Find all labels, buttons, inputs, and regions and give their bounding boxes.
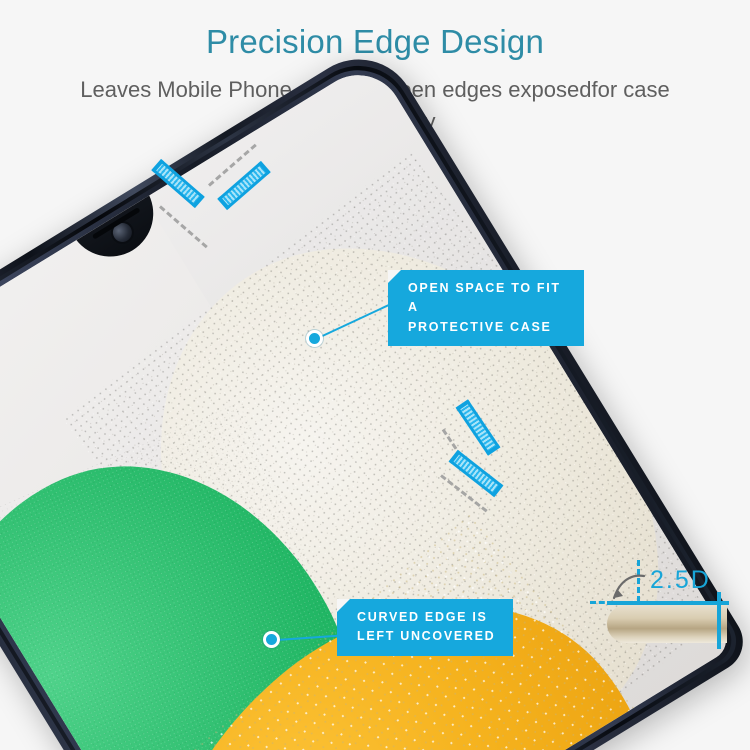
callout-curved-edge: CURVED EDGE IS LEFT UNCOVERED bbox=[337, 599, 513, 656]
callout-open-space: OPEN SPACE TO FIT A PROTECTIVE CASE bbox=[388, 270, 584, 346]
glass-cross-section bbox=[607, 605, 727, 643]
edge-profile-diagram: 2.5D bbox=[560, 550, 750, 690]
callout-anchor-dot bbox=[263, 631, 280, 648]
edge-spec-label: 2.5D bbox=[650, 566, 711, 595]
curve-arrow-icon bbox=[610, 568, 652, 602]
callout-anchor-dot bbox=[306, 330, 323, 347]
infographic-canvas: Precision Edge Design Leaves Mobile Phon… bbox=[0, 0, 750, 750]
right-edge-line bbox=[717, 592, 721, 649]
